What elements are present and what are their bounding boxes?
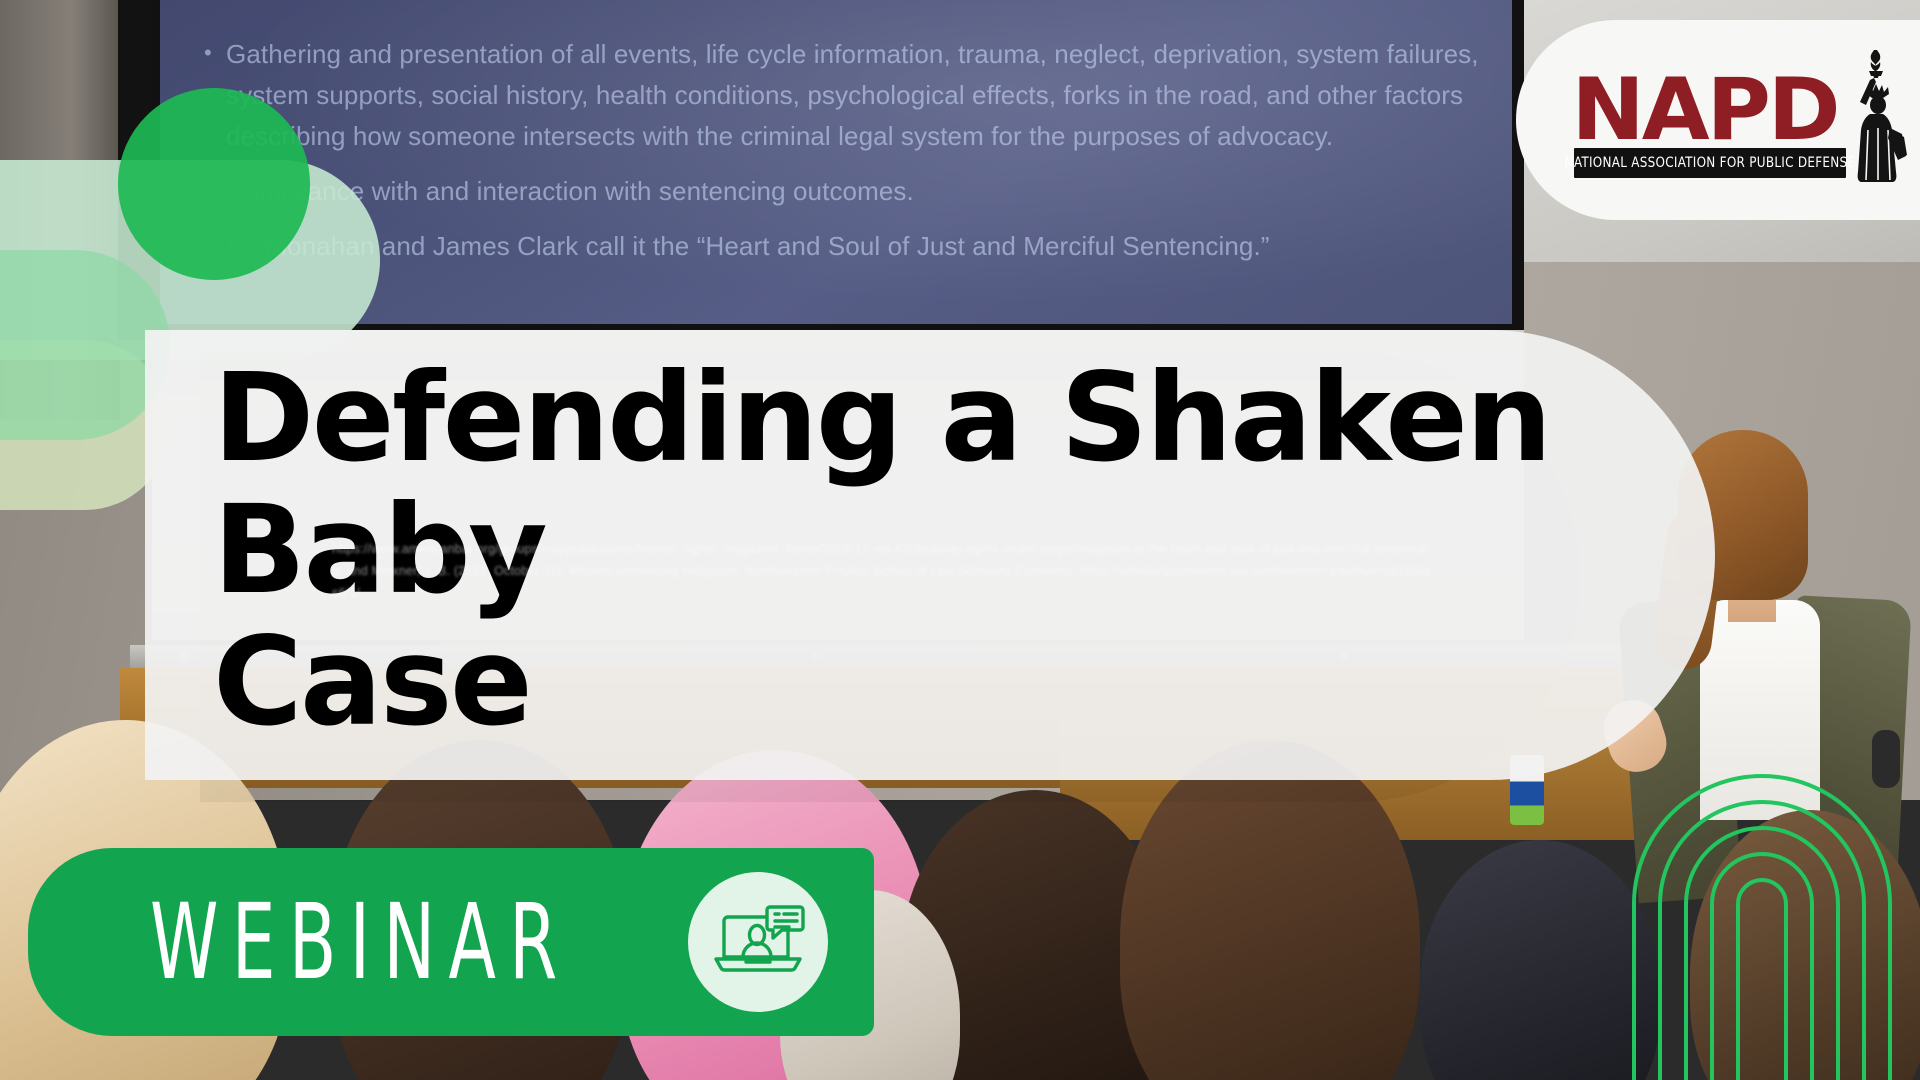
- statue-of-liberty-icon: [1824, 48, 1910, 189]
- decor-circle-green: [118, 88, 310, 280]
- napd-logo-pill: NAPD NATIONAL ASSOCIATION FOR PUBLIC DEF…: [1516, 20, 1920, 220]
- title-line-2: Case: [213, 616, 1663, 748]
- napd-tagline: NATIONAL ASSOCIATION FOR PUBLIC DEFENSE: [1565, 155, 1856, 171]
- slide-bullet-2: Compliance with and interaction with sen…: [200, 171, 1480, 212]
- napd-wordmark: NAPD: [1571, 60, 1837, 160]
- webinar-badge-label: WEBINAR: [150, 881, 571, 1003]
- slide-footnote-citation: https://www.americanbar.org/groups/crsj/…: [332, 538, 1432, 604]
- webinar-promo-graphic: NAPD napd.org/publicdefen Gathering and …: [0, 0, 1920, 1080]
- webinar-badge: WEBINAR: [28, 848, 874, 1036]
- webinar-laptop-chat-icon: [688, 872, 828, 1012]
- decor-concentric-arches: [1620, 752, 1920, 1080]
- slide-bullet-1: Gathering and presentation of all events…: [200, 34, 1480, 157]
- slide-text-block: Gathering and presentation of all events…: [200, 34, 1480, 267]
- napd-tagline-bar: NATIONAL ASSOCIATION FOR PUBLIC DEFENSE: [1574, 148, 1846, 178]
- slide-bullet-3: Ed Monahan and James Clark call it the “…: [200, 226, 1480, 267]
